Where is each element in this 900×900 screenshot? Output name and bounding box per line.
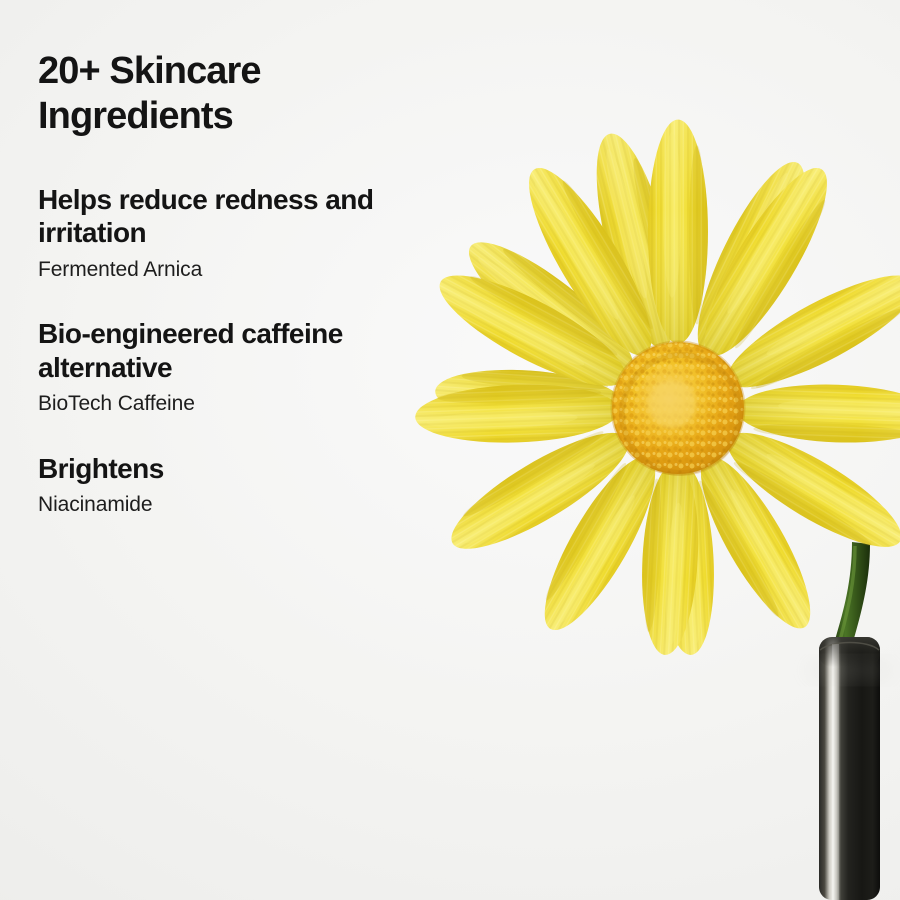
benefit-ingredient-2: BioTech Caffeine	[38, 391, 418, 417]
benefit-title-2: Bio-engineered caffeine alternative	[38, 317, 348, 384]
benefit-item-3: Brightens Niacinamide	[38, 452, 418, 519]
text-column: 20+ Skincare Ingredients Helps reduce re…	[38, 49, 418, 518]
benefit-title-1: Helps reduce redness and irritation	[38, 183, 378, 250]
benefit-title-3: Brightens	[38, 452, 418, 486]
flower-stem	[832, 542, 870, 652]
product-ingredients-poster: 20+ Skincare Ingredients Helps reduce re…	[0, 0, 900, 900]
benefit-item-2: Bio-engineered caffeine alternative BioT…	[38, 317, 418, 417]
benefit-item-1: Helps reduce redness and irritation Ferm…	[38, 183, 418, 283]
page-title: 20+ Skincare Ingredients	[38, 49, 308, 139]
benefit-ingredient-1: Fermented Arnica	[38, 257, 418, 283]
flower-center	[612, 342, 744, 474]
benefit-ingredient-3: Niacinamide	[38, 492, 418, 518]
flower-photograph	[400, 110, 900, 900]
